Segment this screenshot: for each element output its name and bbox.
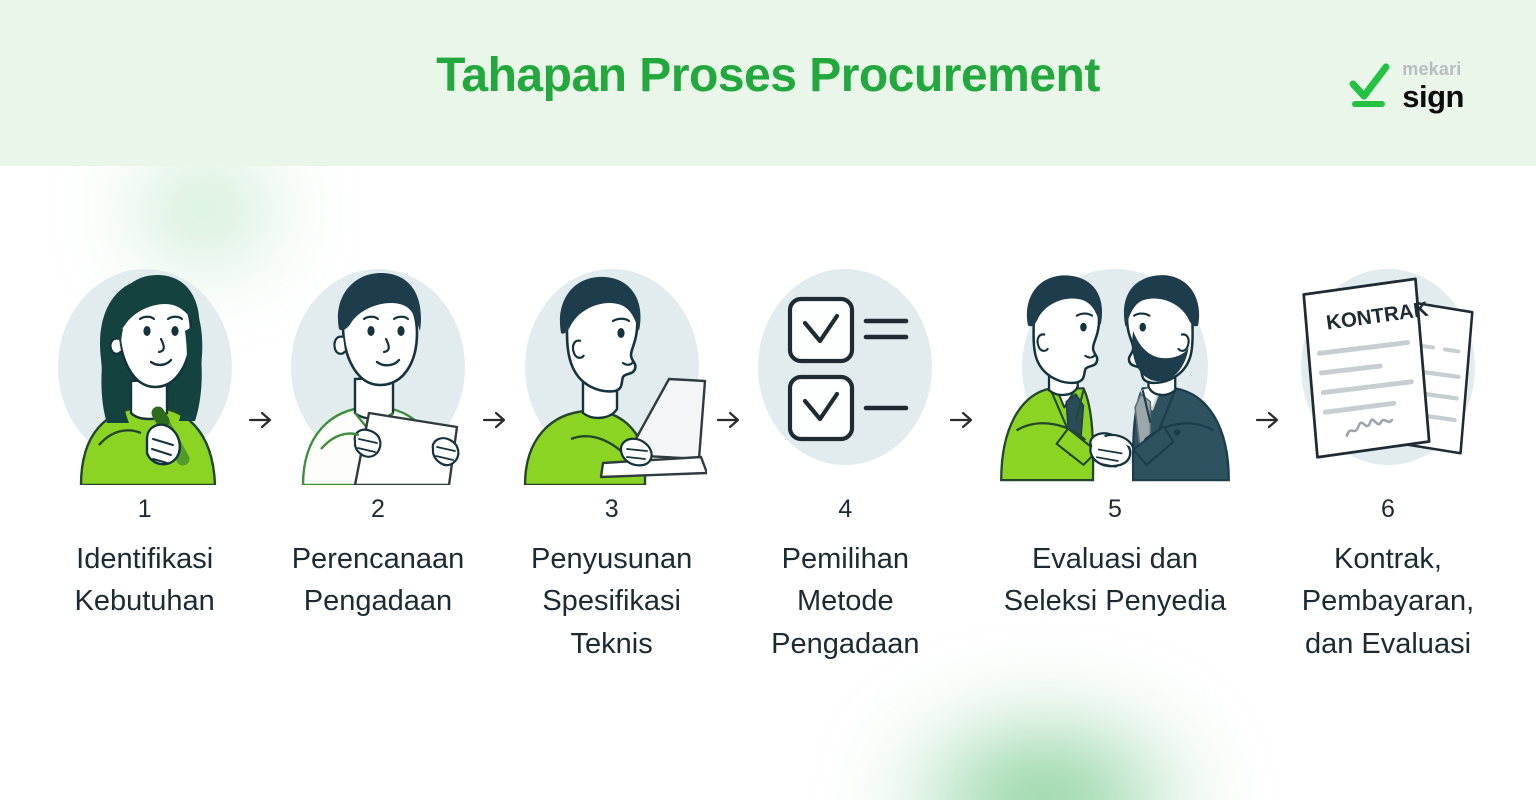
page-title: Tahapan Proses Procurement bbox=[0, 48, 1536, 103]
step-3-illustration bbox=[517, 255, 707, 485]
green-check-icon bbox=[1347, 62, 1391, 110]
step-4-illustration bbox=[751, 255, 940, 485]
arrow-right-icon bbox=[1255, 411, 1281, 429]
step-2-label: Perencanaan Pengadaan bbox=[292, 538, 465, 623]
decorative-green-blob-bottom bbox=[880, 705, 1210, 800]
connector-arrow-3 bbox=[707, 255, 751, 485]
step-2-number: 2 bbox=[371, 497, 385, 522]
step-4: 4 Pemilihan Metode Pengadaan bbox=[751, 255, 940, 665]
step-3-label: Penyusunan Spesifikasi Teknis bbox=[531, 538, 692, 665]
step-1-number: 1 bbox=[138, 497, 152, 522]
step-3: 3 Penyusunan Spesifikasi Teknis bbox=[517, 255, 707, 665]
arrow-right-icon bbox=[482, 411, 508, 429]
contract-documents-icon: KONTRAK bbox=[1290, 267, 1486, 473]
man-typing-on-laptop-icon bbox=[517, 263, 707, 485]
connector-arrow-2 bbox=[473, 255, 517, 485]
header-band: Tahapan Proses Procurement mekari sign bbox=[0, 0, 1536, 166]
step-4-number: 4 bbox=[838, 497, 852, 522]
step-6-illustration: KONTRAK bbox=[1290, 255, 1486, 485]
step-1-label: Identifikasi Kebutuhan bbox=[75, 538, 215, 623]
logo-text-sign: sign bbox=[1402, 81, 1464, 112]
arrow-right-icon bbox=[248, 411, 274, 429]
step-3-number: 3 bbox=[605, 497, 619, 522]
man-reading-document-icon bbox=[285, 263, 471, 485]
step-5-illustration bbox=[984, 255, 1246, 485]
logo-wordmark: mekari sign bbox=[1402, 60, 1464, 112]
step-5: 5 Evaluasi dan Seleksi Penyedia bbox=[984, 255, 1246, 623]
step-4-label: Pemilihan Metode Pengadaan bbox=[771, 538, 919, 665]
infographic-page: Tahapan Proses Procurement mekari sign bbox=[0, 0, 1536, 800]
connector-arrow-4 bbox=[940, 255, 984, 485]
step-6-label: Kontrak, Pembayaran, dan Evaluasi bbox=[1302, 538, 1475, 665]
two-men-handshake-icon bbox=[984, 263, 1246, 485]
decorative-green-blob-top bbox=[120, 150, 290, 270]
step-5-label: Evaluasi dan Seleksi Penyedia bbox=[1004, 538, 1226, 623]
checkbox-comparison-icon bbox=[760, 271, 930, 471]
process-steps-row: 1 Identifikasi Kebutuhan bbox=[50, 255, 1486, 665]
step-1-illustration bbox=[50, 255, 239, 485]
mekari-sign-logo: mekari sign bbox=[1347, 60, 1464, 112]
front-document: KONTRAK bbox=[1304, 279, 1430, 457]
arrow-right-icon bbox=[716, 411, 742, 429]
step-5-number: 5 bbox=[1108, 497, 1122, 522]
step-6-number: 6 bbox=[1381, 497, 1395, 522]
connector-arrow-1 bbox=[239, 255, 283, 485]
logo-text-mekari: mekari bbox=[1402, 60, 1464, 78]
step-2-illustration bbox=[283, 255, 472, 485]
connector-arrow-5 bbox=[1246, 255, 1290, 485]
step-6: KONTRAK 6 Kontrak, Pembayaran, dan Evalu… bbox=[1290, 255, 1486, 665]
arrow-right-icon bbox=[949, 411, 975, 429]
step-2: 2 Perencanaan Pengadaan bbox=[283, 255, 472, 623]
woman-writing-with-pen-icon bbox=[55, 263, 235, 485]
step-1: 1 Identifikasi Kebutuhan bbox=[50, 255, 239, 623]
